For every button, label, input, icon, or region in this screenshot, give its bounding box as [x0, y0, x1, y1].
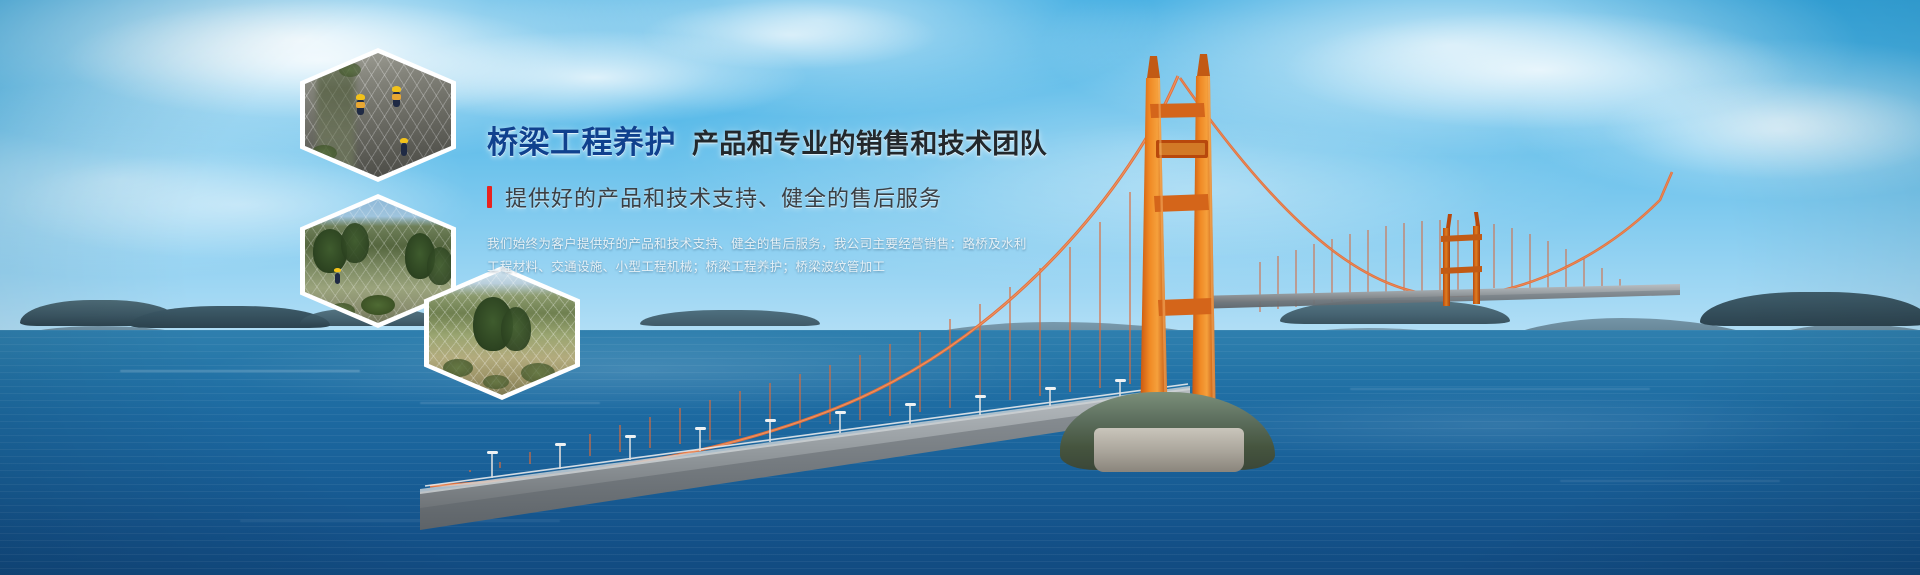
worker-figure [401, 143, 407, 156]
photo-rock-slope [305, 53, 451, 177]
worker-figure [357, 99, 364, 115]
description-line-1: 我们始终为客户提供好的产品和技术支持、健全的售后服务，我公司主要经营销售：路桥及… [487, 233, 797, 256]
subtitle-row: 提供好的产品和技术支持、健全的售后服务 [487, 181, 1047, 213]
banner-subtitle: 提供好的产品和技术支持、健全的售后服务 [505, 181, 942, 213]
worker-figure [393, 91, 400, 107]
description-line-2: 工程材料、交通设施、小型工程机械；桥梁工程养护；桥梁波纹管加工 [487, 256, 797, 279]
worker-figure [335, 273, 340, 284]
headline-primary: 桥梁工程养护 [487, 125, 676, 160]
suspension-bridge [0, 0, 1920, 575]
bridge-tower-main [1140, 54, 1216, 432]
banner-description: 我们始终为客户提供好的产品和技术支持、健全的售后服务，我公司主要经营销售：路桥及… [487, 233, 797, 279]
headline-secondary: 产品和专业的销售和技术团队 [692, 129, 1047, 159]
banner-copy: 桥梁工程养护产品和专业的销售和技术团队 提供好的产品和技术支持、健全的售后服务 … [487, 126, 1047, 279]
page-title: 桥梁工程养护产品和专业的销售和技术团队 [487, 126, 1047, 161]
hero-banner: 桥梁工程养护产品和专业的销售和技术团队 提供好的产品和技术支持、健全的售后服务 … [0, 0, 1920, 575]
accent-bar-icon [487, 186, 492, 208]
